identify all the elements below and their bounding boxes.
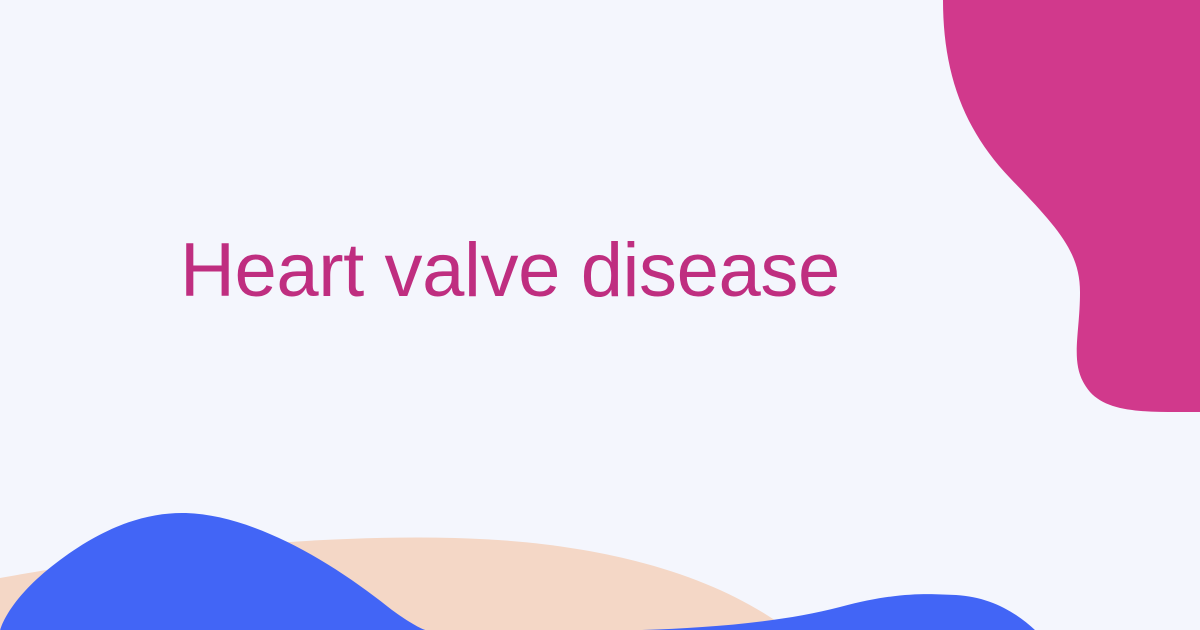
social-share-card: Heart valve disease [0, 0, 1200, 630]
page-title: Heart valve disease [180, 228, 940, 313]
blue-wave-bottom-right-shape [570, 594, 1036, 630]
decorative-blob-layer [0, 0, 1200, 630]
title-block: Heart valve disease [180, 228, 940, 313]
card-background [0, 0, 1200, 630]
blue-wave-bottom-left-shape [0, 513, 430, 630]
peach-wave-bottom-shape [0, 538, 790, 630]
pink-blob-top-right-shape [943, 0, 1200, 412]
